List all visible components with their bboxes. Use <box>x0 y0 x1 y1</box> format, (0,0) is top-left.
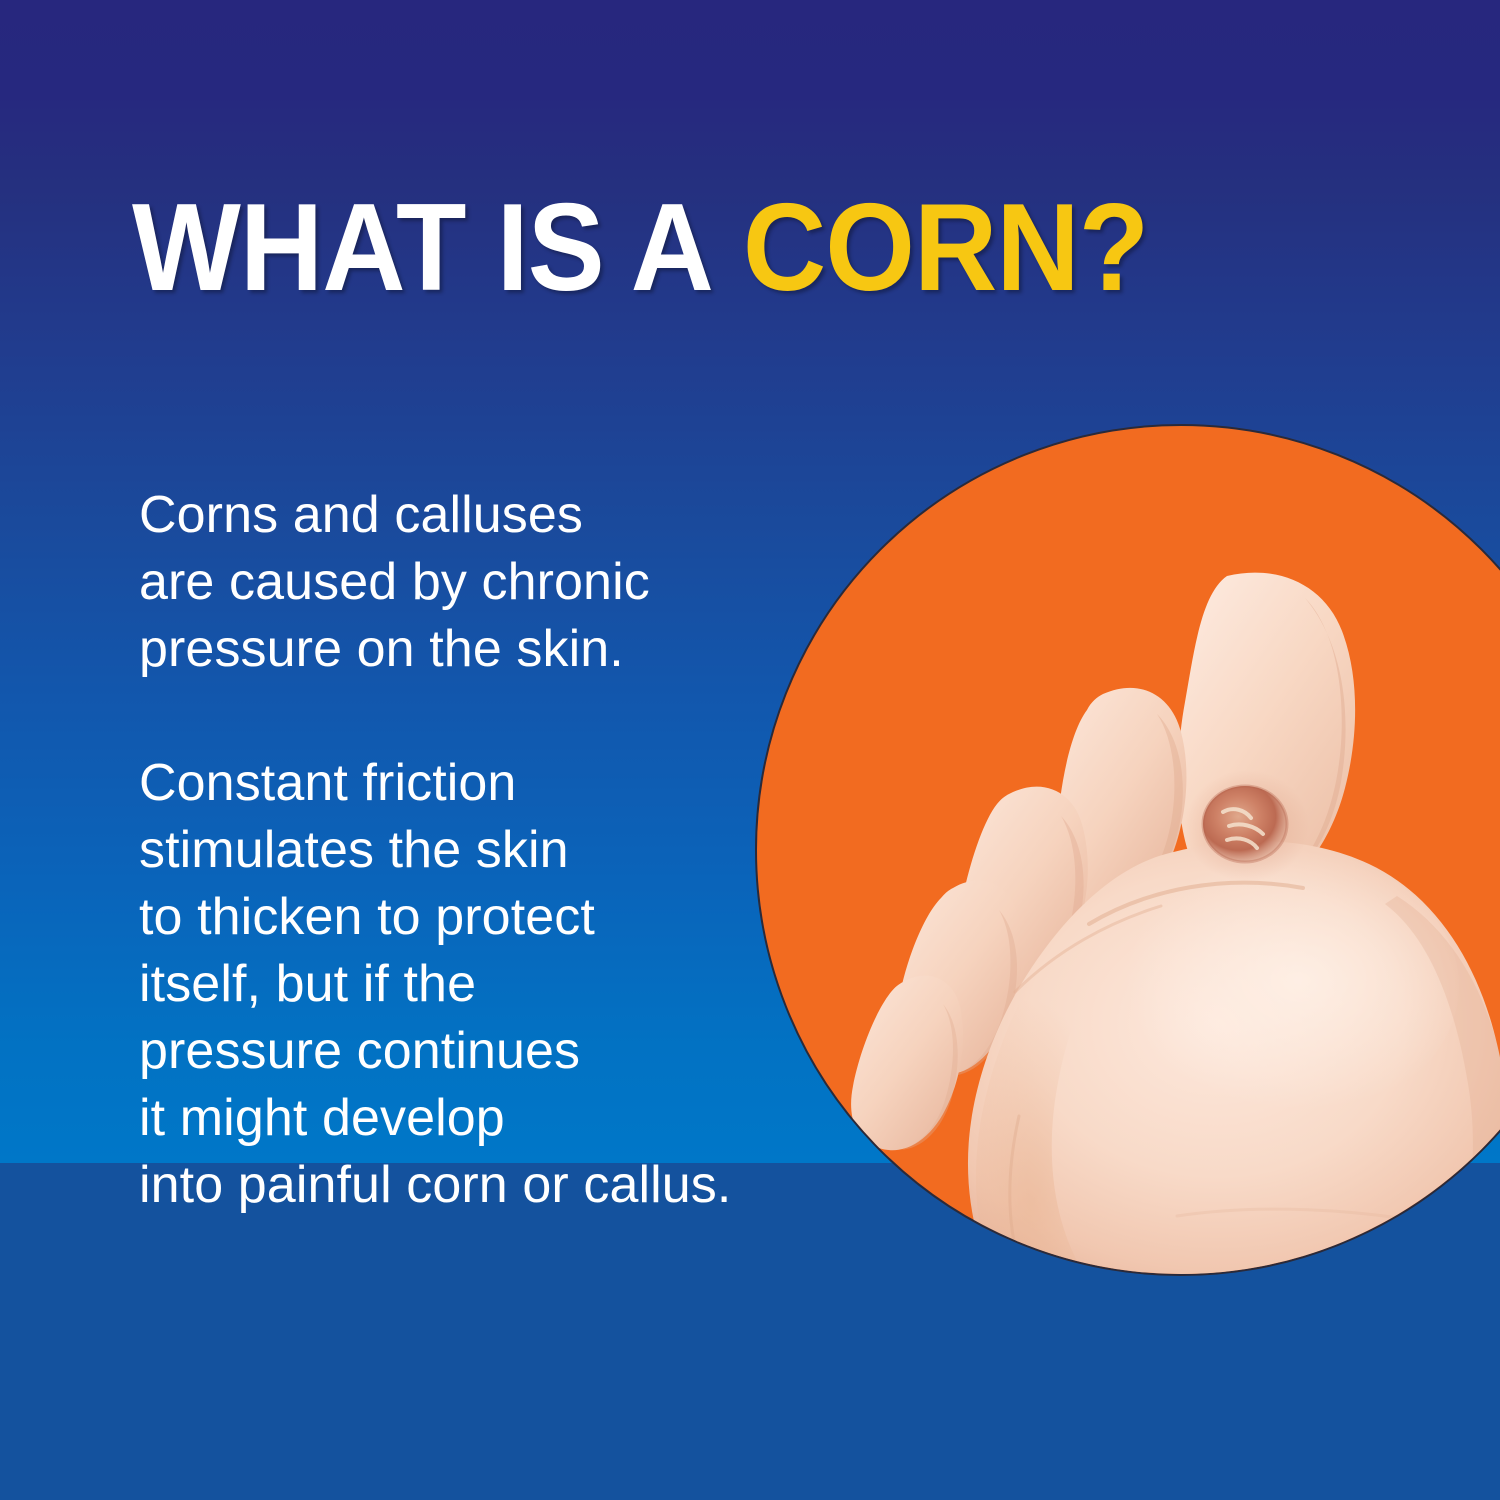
paragraph-two-line: it might develop <box>139 1085 839 1152</box>
little-toe <box>851 976 963 1151</box>
corn-lesion <box>1185 770 1309 882</box>
paragraph-one-line: pressure on the skin. <box>139 616 839 683</box>
poster-root: WHAT IS ACORN? Corns and calluses are ca… <box>0 0 1500 1500</box>
paragraph-two-line: pressure continues <box>139 1018 839 1085</box>
paragraph-one-line: are caused by chronic <box>139 549 839 616</box>
paragraph-one: Corns and calluses are caused by chronic… <box>139 482 839 683</box>
page-title-lead: WHAT IS A <box>132 179 713 317</box>
page-title-accent: CORN? <box>743 179 1148 317</box>
paragraph-two: Constant friction stimulates the skin to… <box>139 750 839 1219</box>
paragraph-two-line: to thicken to protect <box>139 884 839 951</box>
sole-highlight <box>1079 846 1459 1126</box>
paragraph-two-line: into painful corn or callus. <box>139 1152 839 1219</box>
paragraph-one-line: Corns and calluses <box>139 482 839 549</box>
paragraph-two-line: stimulates the skin <box>139 817 839 884</box>
page-title: WHAT IS ACORN? <box>132 186 1148 310</box>
foot-photo-circle <box>755 424 1500 1276</box>
foot-illustration <box>757 426 1500 1276</box>
paragraph-two-line: Constant friction <box>139 750 839 817</box>
paragraph-two-line: itself, but if the <box>139 951 839 1018</box>
body-copy: Corns and calluses are caused by chronic… <box>139 482 839 1219</box>
paragraph-spacer <box>139 683 839 750</box>
